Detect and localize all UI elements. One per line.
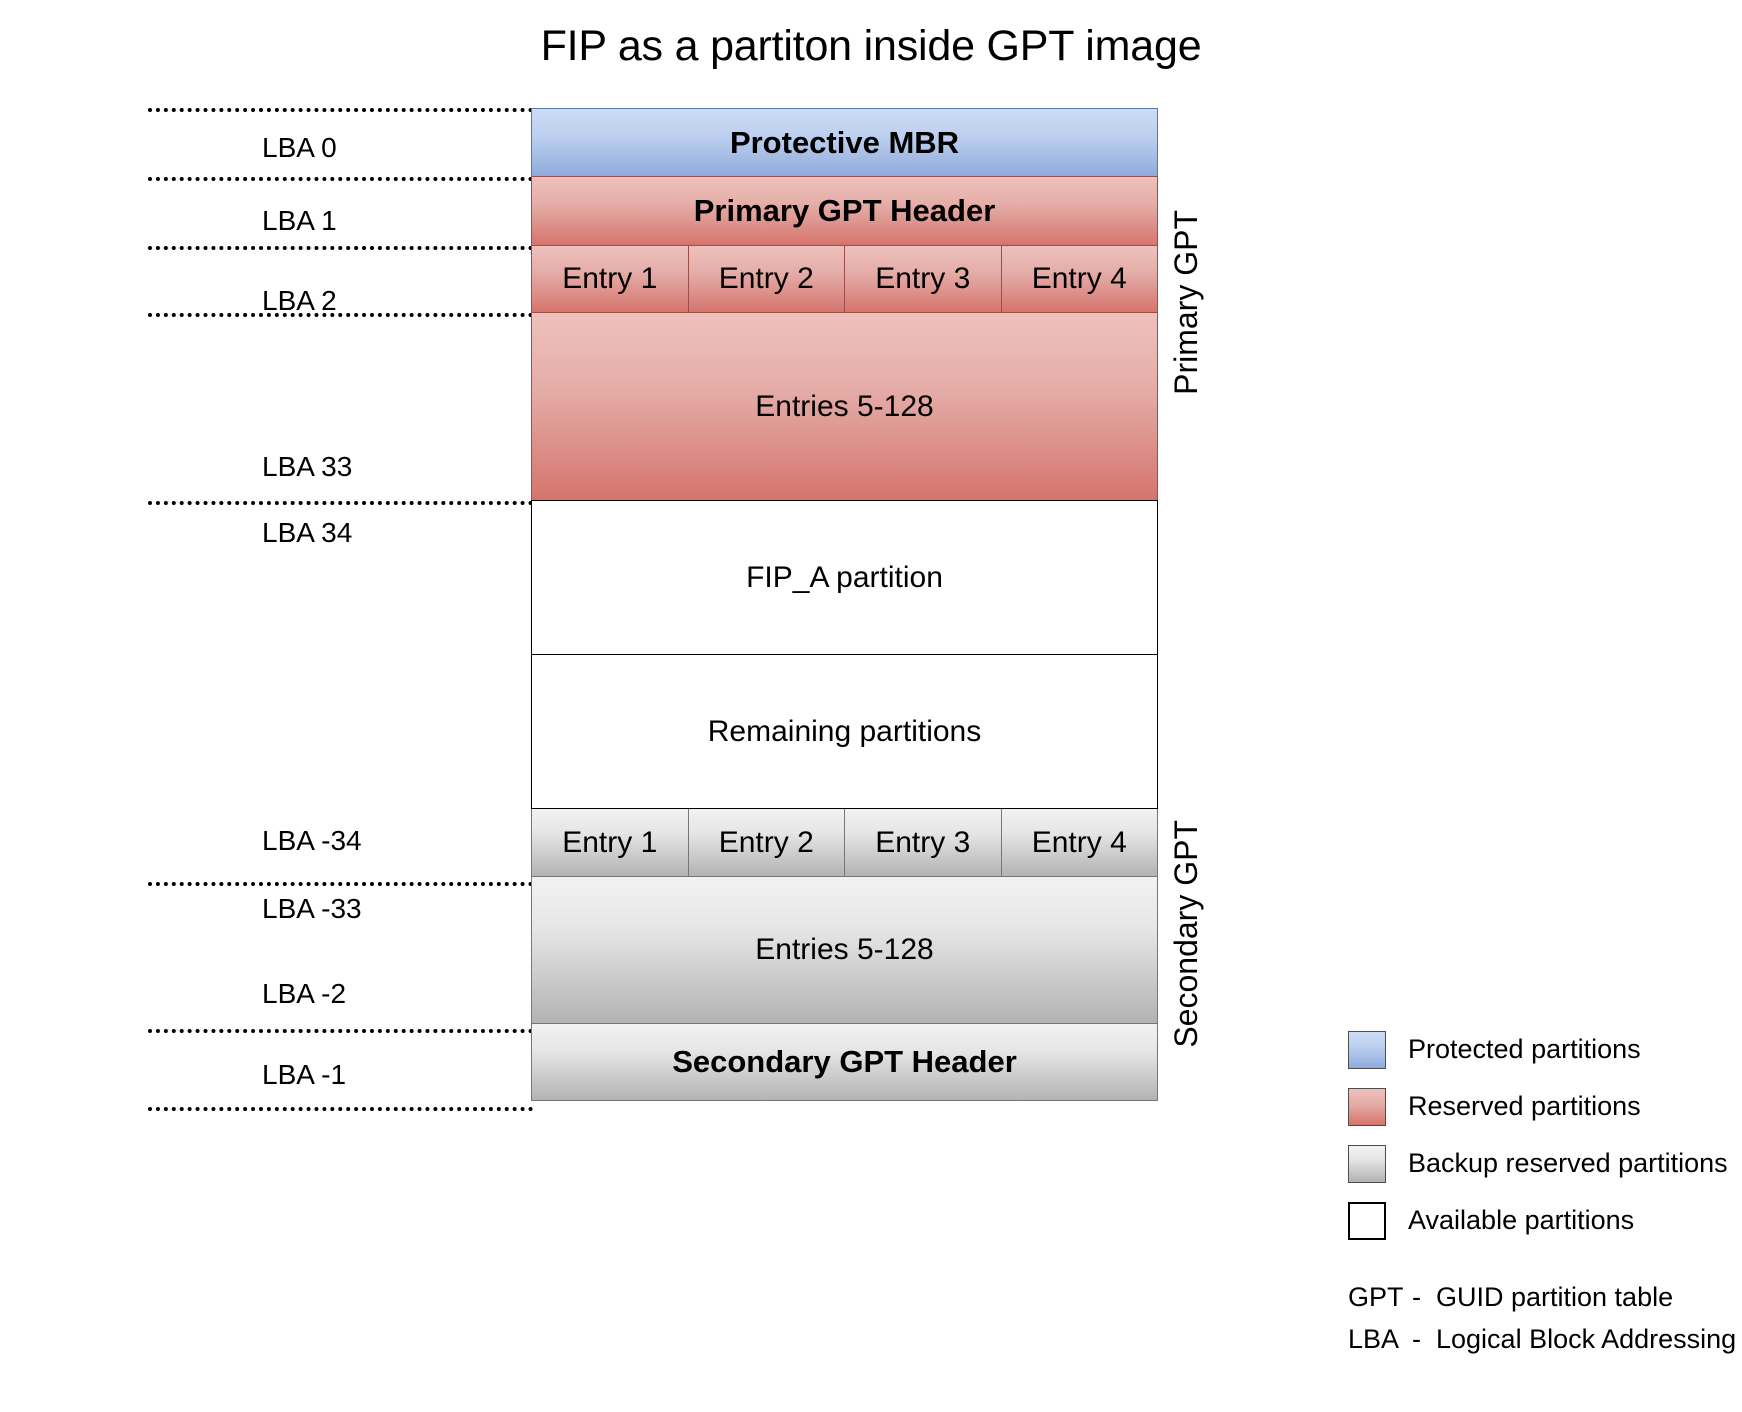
page-title: FIP as a partiton inside GPT image bbox=[0, 20, 1742, 72]
abbreviation-gpt: GPT - GUID partition table bbox=[1348, 1282, 1742, 1324]
legend-swatch-backup-reserved-icon bbox=[1348, 1145, 1386, 1183]
block-secondary-gpt-header[interactable]: Secondary GPT Header bbox=[531, 1023, 1158, 1101]
leader-line-lba-m33-top bbox=[148, 882, 533, 886]
legend-swatch-available-icon bbox=[1348, 1202, 1386, 1240]
legend: Protected partitions Reserved partitions… bbox=[1348, 1021, 1738, 1249]
legend-label-reserved: Reserved partitions bbox=[1408, 1091, 1641, 1122]
lba-label-33: LBA 33 bbox=[262, 452, 352, 482]
legend-item-reserved: Reserved partitions bbox=[1348, 1078, 1738, 1135]
abbreviation-list: GPT - GUID partition table LBA - Logical… bbox=[1348, 1282, 1742, 1366]
secondary-entry-4[interactable]: Entry 4 bbox=[1001, 808, 1159, 877]
legend-item-protected: Protected partitions bbox=[1348, 1021, 1738, 1078]
legend-label-protected: Protected partitions bbox=[1408, 1034, 1641, 1065]
primary-entry-2[interactable]: Entry 2 bbox=[688, 245, 846, 313]
abbreviation-gpt-key: GPT bbox=[1348, 1282, 1412, 1313]
legend-label-available: Available partitions bbox=[1408, 1205, 1634, 1236]
leader-line-bottom bbox=[148, 1107, 533, 1111]
block-fip-a-partition[interactable]: FIP_A partition bbox=[531, 500, 1158, 655]
gpt-layout-stack: Protective MBR Primary GPT Header Entry … bbox=[531, 108, 1158, 1101]
lba-label-34: LBA 34 bbox=[262, 518, 352, 548]
abbreviation-lba: LBA - Logical Block Addressing bbox=[1348, 1324, 1742, 1366]
lba-label-2: LBA 2 bbox=[262, 286, 337, 316]
legend-swatch-reserved-icon bbox=[1348, 1088, 1386, 1126]
legend-item-available: Available partitions bbox=[1348, 1192, 1738, 1249]
block-primary-gpt-header[interactable]: Primary GPT Header bbox=[531, 176, 1158, 246]
leader-line-lba-m1-top bbox=[148, 1029, 533, 1033]
lba-label-m33: LBA -33 bbox=[262, 894, 362, 924]
abbreviation-gpt-dash: - bbox=[1412, 1282, 1436, 1313]
leader-line-lba-2-top bbox=[148, 246, 533, 250]
lba-label-1: LBA 1 bbox=[262, 206, 337, 236]
primary-entry-3[interactable]: Entry 3 bbox=[844, 245, 1002, 313]
abbreviation-lba-dash: - bbox=[1412, 1324, 1436, 1355]
legend-label-backup-reserved: Backup reserved partitions bbox=[1408, 1148, 1728, 1179]
block-primary-entries-5-128[interactable]: Entries 5-128 bbox=[531, 312, 1158, 501]
abbreviation-gpt-value: GUID partition table bbox=[1436, 1282, 1742, 1313]
side-label-secondary-gpt: Secondary GPT bbox=[1168, 820, 1205, 1048]
block-protective-mbr[interactable]: Protective MBR bbox=[531, 108, 1158, 177]
secondary-entry-3[interactable]: Entry 3 bbox=[844, 808, 1002, 877]
leader-line-lba-3-top bbox=[148, 313, 533, 317]
primary-entry-4[interactable]: Entry 4 bbox=[1001, 245, 1159, 313]
abbreviation-lba-key: LBA bbox=[1348, 1324, 1412, 1355]
lba-label-m2: LBA -2 bbox=[262, 979, 346, 1009]
legend-item-backup-reserved: Backup reserved partitions bbox=[1348, 1135, 1738, 1192]
leader-line-lba-0-top bbox=[148, 108, 533, 112]
secondary-entry-1[interactable]: Entry 1 bbox=[531, 808, 689, 877]
abbreviation-lba-value: Logical Block Addressing bbox=[1436, 1324, 1742, 1355]
secondary-entry-row: Entry 1 Entry 2 Entry 3 Entry 4 bbox=[531, 808, 1158, 877]
leader-line-lba-34-top bbox=[148, 501, 533, 505]
side-label-primary-gpt: Primary GPT bbox=[1168, 210, 1205, 395]
lba-label-m1: LBA -1 bbox=[262, 1060, 346, 1090]
legend-swatch-protected-icon bbox=[1348, 1031, 1386, 1069]
secondary-entry-2[interactable]: Entry 2 bbox=[688, 808, 846, 877]
block-remaining-partitions[interactable]: Remaining partitions bbox=[531, 654, 1158, 809]
leader-line-lba-1-top bbox=[148, 177, 533, 181]
block-secondary-entries-5-128[interactable]: Entries 5-128 bbox=[531, 876, 1158, 1024]
primary-entry-1[interactable]: Entry 1 bbox=[531, 245, 689, 313]
lba-label-m34: LBA -34 bbox=[262, 826, 362, 856]
primary-entry-row: Entry 1 Entry 2 Entry 3 Entry 4 bbox=[531, 245, 1158, 313]
lba-label-0: LBA 0 bbox=[262, 133, 337, 163]
